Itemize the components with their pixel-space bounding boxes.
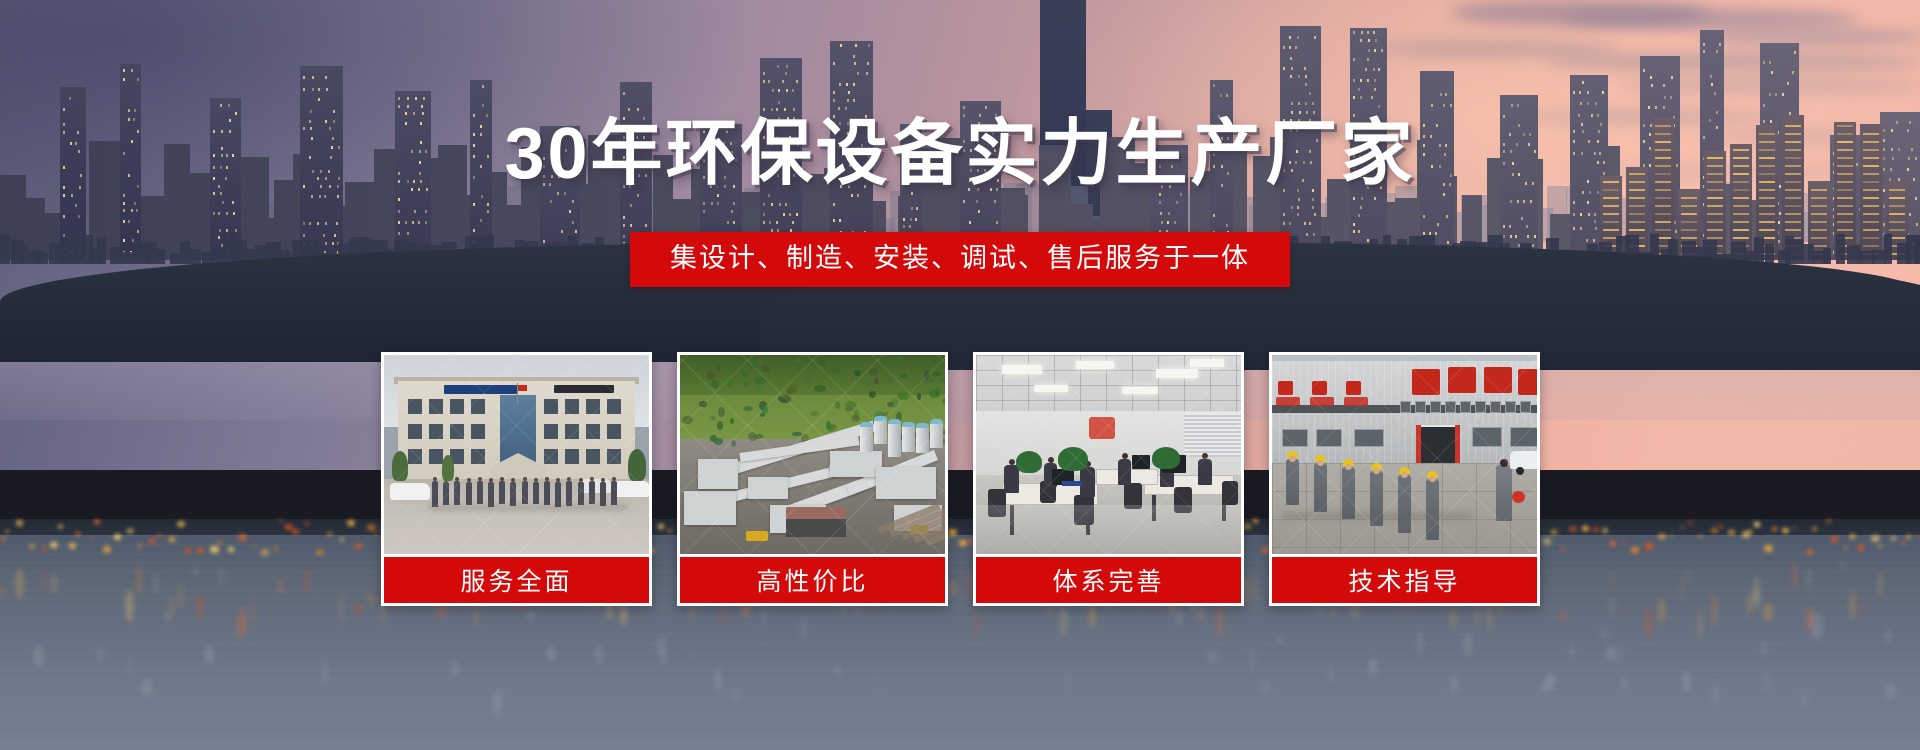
monitor xyxy=(1132,455,1150,469)
company-headquarters-photo xyxy=(384,355,649,554)
instructor xyxy=(1496,465,1512,521)
factory-signage-char xyxy=(1518,369,1537,395)
card-caption: 服务全面 xyxy=(384,557,649,603)
window-blinds xyxy=(1184,413,1241,457)
seated-person xyxy=(1118,459,1131,485)
factory-window xyxy=(1520,401,1531,413)
slogan-char xyxy=(1276,397,1300,406)
factory-window xyxy=(1505,401,1516,413)
ceiling-light xyxy=(1156,369,1198,378)
ceiling-light xyxy=(1034,385,1068,392)
card-caption: 技术指导 xyxy=(1272,557,1537,603)
staff-person xyxy=(522,481,528,504)
factory-signage-char xyxy=(1484,367,1512,393)
silo xyxy=(916,425,929,454)
plant-building xyxy=(698,459,738,489)
page-title: 30年环保设备实力生产厂家 xyxy=(0,118,1920,190)
slogan-char xyxy=(1344,397,1368,406)
seated-person xyxy=(1198,459,1212,485)
staff-person xyxy=(544,481,550,505)
feature-card[interactable]: 技术指导 xyxy=(1269,352,1540,606)
silo xyxy=(930,421,943,447)
office-chair xyxy=(1222,481,1238,505)
industrial-plant-aerial-photo xyxy=(680,355,945,554)
building-sign xyxy=(444,385,518,394)
factory-window xyxy=(1475,401,1486,413)
staff-person xyxy=(432,481,438,507)
factory-window xyxy=(1510,427,1537,447)
silo xyxy=(888,421,901,457)
factory-window xyxy=(1430,401,1441,413)
worker xyxy=(1314,463,1327,512)
factory-signage-char xyxy=(1448,367,1476,393)
factory-window xyxy=(1415,401,1426,413)
staff-person xyxy=(510,482,516,506)
silo xyxy=(860,424,873,452)
card-caption: 体系完善 xyxy=(976,557,1241,603)
hero-banner: 30年环保设备实力生产厂家 集设计、制造、安装、调试、售后服务于一体 服务全面 xyxy=(0,0,1920,750)
potted-plant xyxy=(1016,451,1042,473)
subtitle-container: 集设计、制造、安装、调试、售后服务于一体 xyxy=(0,232,1920,287)
potted-plant xyxy=(1152,447,1180,469)
slogan-char xyxy=(1346,381,1361,395)
staff-person xyxy=(533,482,539,504)
staff-person xyxy=(611,481,617,505)
staff-person xyxy=(477,481,483,504)
factory-window xyxy=(1490,401,1501,413)
feature-card[interactable]: 高性价比 xyxy=(677,352,948,606)
factory-window xyxy=(1445,401,1456,413)
factory-window xyxy=(1282,429,1308,447)
slogan-char xyxy=(1310,397,1334,406)
staff-person xyxy=(578,482,584,505)
ceiling-light xyxy=(1122,387,1158,394)
ceiling-light xyxy=(1002,365,1042,374)
building-phone-sign xyxy=(554,385,614,393)
factory-window xyxy=(1472,427,1502,447)
wall-logo xyxy=(1089,417,1115,439)
plant-building xyxy=(748,477,788,499)
slogan-char xyxy=(1312,381,1327,395)
silo xyxy=(902,424,915,452)
seated-person xyxy=(1080,467,1095,497)
feature-card-list: 服务全面 高性价比 体 xyxy=(381,352,1540,606)
factory-window xyxy=(1400,401,1411,413)
staff-person xyxy=(600,482,606,506)
staff-person xyxy=(488,482,494,507)
factory-window xyxy=(1354,429,1384,447)
ceiling-light xyxy=(1190,359,1224,367)
staff-person xyxy=(555,482,561,507)
card-caption: 高性价比 xyxy=(680,557,945,603)
office-interior-photo xyxy=(976,355,1241,554)
factory-workers-training-photo xyxy=(1272,355,1537,554)
staff-person xyxy=(589,481,595,504)
red-helmet xyxy=(1512,491,1525,503)
staff-person xyxy=(466,482,472,505)
seated-person xyxy=(1004,465,1019,493)
feature-card[interactable]: 体系完善 xyxy=(973,352,1244,606)
slogan-char xyxy=(1278,381,1293,395)
staff-person xyxy=(454,481,460,505)
worker xyxy=(1398,475,1411,533)
plant-building xyxy=(830,451,882,477)
silo xyxy=(874,418,887,444)
feature-card[interactable]: 服务全面 xyxy=(381,352,652,606)
staff-person xyxy=(499,481,505,504)
factory-window xyxy=(1460,401,1471,413)
factory-window xyxy=(1316,429,1342,447)
worker xyxy=(1342,467,1355,519)
staff-person xyxy=(443,482,449,505)
ceiling-light xyxy=(1076,361,1114,369)
subtitle-badge: 集设计、制造、安装、调试、售后服务于一体 xyxy=(630,232,1290,287)
factory-signage-char xyxy=(1412,369,1440,395)
plant-building xyxy=(684,491,736,525)
worker xyxy=(1426,479,1439,540)
worker xyxy=(1286,459,1299,505)
plant-building xyxy=(876,467,936,499)
factory-door xyxy=(1420,427,1456,465)
staff-person xyxy=(566,481,572,506)
potted-plant xyxy=(1058,447,1088,471)
